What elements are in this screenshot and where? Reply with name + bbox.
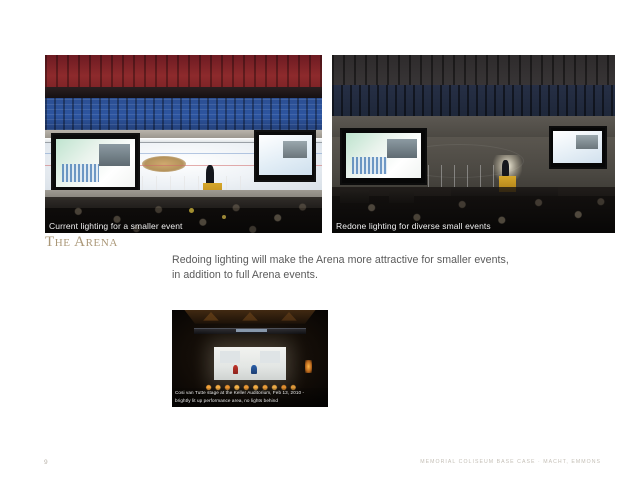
presentation-slide: Current lighting for a smaller event Re [0, 0, 643, 497]
projected-slide-image [553, 131, 601, 163]
set-panel-right [260, 351, 280, 363]
section-title: The Arena [45, 234, 118, 251]
stage-side-lamp [305, 360, 313, 373]
left-projection-screen [51, 133, 141, 194]
projected-slide-image [346, 133, 421, 178]
body-line-1: Redoing lighting will make the Arena mor… [172, 253, 544, 268]
performer-red [233, 365, 238, 374]
lit-stage-set [214, 347, 286, 380]
right-projection-screen [254, 130, 316, 182]
left-projection-screen [340, 128, 426, 185]
projected-slide-image [259, 135, 311, 174]
footlight-row [203, 384, 297, 392]
upper-deck-shadow [45, 87, 322, 98]
photo-redone-lighting: Redone lighting for diverse small events [332, 55, 615, 233]
page-number: 9 [44, 459, 48, 466]
performer-blue [251, 365, 257, 374]
projected-slide-image [56, 139, 135, 187]
presenter-figure [206, 165, 214, 185]
body-copy: Redoing lighting will make the Arena mor… [172, 253, 544, 283]
lower-bowl-blue-seats [45, 98, 322, 130]
right-projection-screen [549, 126, 607, 169]
theater-house-scene [172, 310, 328, 407]
photo-keller-auditorium: Cosi van Tutte stage at the Keller Audit… [172, 310, 328, 407]
presenter-figure [502, 160, 509, 176]
surtitle-display [236, 329, 267, 332]
photo-current-lighting: Current lighting for a smaller event [45, 55, 322, 233]
set-panel-left [220, 351, 240, 363]
audience-crowd [45, 197, 322, 233]
body-line-2: in addition to full Arena events. [172, 268, 544, 283]
lower-bowl-dimmed-seats [332, 85, 615, 117]
footer-note: MEMORIAL COLISEUM BASE CASE · MACHT, EMM… [420, 459, 601, 465]
arena-bright-scene [45, 55, 322, 233]
audience-crowd [332, 187, 615, 233]
arena-dim-scene [332, 55, 615, 233]
